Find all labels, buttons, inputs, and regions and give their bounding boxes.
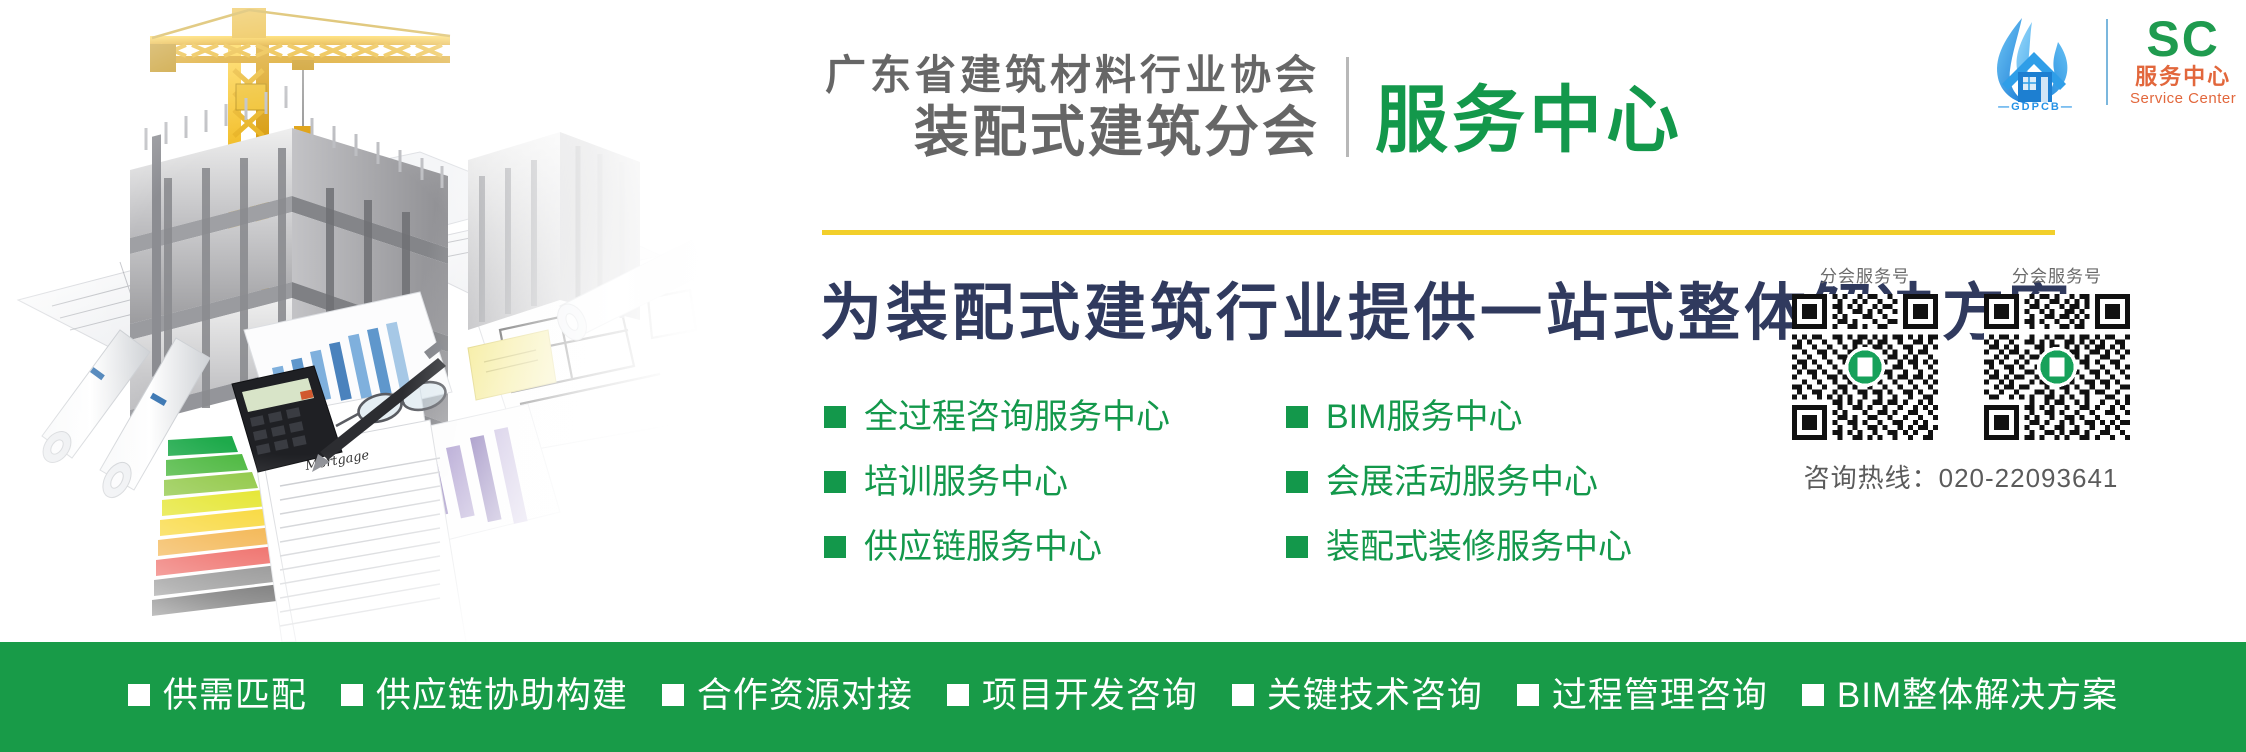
- bullet-square-icon: [1286, 471, 1308, 493]
- footer-tag-label: 过程管理咨询: [1552, 678, 1768, 713]
- yellow-rule-divider: [822, 230, 2055, 235]
- service-item[interactable]: 会展活动服务中心: [1286, 465, 1632, 499]
- qr-code-image: [1792, 294, 1938, 440]
- bullet-square-icon: [1517, 684, 1539, 706]
- service-item-label: 供应链服务中心: [864, 530, 1102, 564]
- logo-divider: [2106, 19, 2108, 105]
- footer-tag[interactable]: 合作资源对接: [662, 678, 913, 713]
- bullet-square-icon: [824, 471, 846, 493]
- bullet-square-icon: [1286, 536, 1308, 558]
- service-item-label: 会展活动服务中心: [1326, 465, 1598, 499]
- qr-code-cell[interactable]: 分会服务号: [1785, 262, 1945, 440]
- footer-tag-label: BIM整体解决方案: [1837, 678, 2118, 713]
- service-list-right: BIM服务中心 会展活动服务中心 装配式装修服务中心: [1286, 400, 1632, 564]
- qr-code-cell[interactable]: 分会服务号: [1977, 262, 2137, 440]
- bullet-square-icon: [824, 406, 846, 428]
- hero-edge-fade: [0, 0, 700, 642]
- service-item-label: 全过程咨询服务中心: [864, 400, 1170, 434]
- service-list: 全过程咨询服务中心 培训服务中心 供应链服务中心 BIM服务中心: [824, 400, 1632, 564]
- bullet-square-icon: [824, 536, 846, 558]
- footer-tag-bar: 供需匹配 供应链协助构建 合作资源对接 项目开发咨询 关键技术咨询 过程管理咨询: [0, 642, 2246, 752]
- bullet-square-icon: [1802, 684, 1824, 706]
- hero-illustration: Mortgage: [0, 0, 700, 642]
- logo-abbr: SC: [2146, 15, 2219, 63]
- logo-abbreviation-caption: —GDPCB—: [1988, 101, 2084, 113]
- hotline-text: 咨询热线：020-22093641: [1785, 458, 2137, 495]
- association-line-1: 广东省建筑材料行业协会: [825, 52, 1320, 100]
- service-item[interactable]: 培训服务中心: [824, 465, 1170, 499]
- footer-tag[interactable]: 供应链协助构建: [341, 678, 628, 713]
- logo-name-en: Service Center: [2130, 90, 2236, 109]
- qr-caption: 分会服务号: [2012, 262, 2102, 287]
- qr-caption: 分会服务号: [1820, 262, 1910, 287]
- service-item-label: 装配式装修服务中心: [1326, 530, 1632, 564]
- logo-name-cn: 服务中心: [2135, 63, 2231, 91]
- service-item[interactable]: 全过程咨询服务中心: [824, 400, 1170, 434]
- service-item[interactable]: 供应链服务中心: [824, 530, 1170, 564]
- footer-tag-list: 供需匹配 供应链协助构建 合作资源对接 项目开发咨询 关键技术咨询 过程管理咨询: [128, 678, 2118, 717]
- footer-tag[interactable]: 关键技术咨询: [1232, 678, 1483, 713]
- association-name: 广东省建筑材料行业协会 装配式建筑分会: [825, 52, 1320, 163]
- bullet-square-icon: [128, 684, 150, 706]
- flame-house-icon: —GDPCB—: [1988, 12, 2084, 112]
- bullet-square-icon: [947, 684, 969, 706]
- service-item-label: 培训服务中心: [864, 465, 1068, 499]
- qr-code-image: [1984, 294, 2130, 440]
- bullet-square-icon: [662, 684, 684, 706]
- footer-tag-label: 供应链协助构建: [376, 678, 628, 713]
- footer-tag[interactable]: 过程管理咨询: [1517, 678, 1768, 713]
- footer-tag[interactable]: 供需匹配: [128, 678, 307, 713]
- vertical-divider: [1346, 57, 1349, 157]
- content-column: 广东省建筑材料行业协会 装配式建筑分会 服务中心 为装配式建筑行业提供一站式整体…: [700, 0, 2246, 642]
- footer-tag-label: 供需匹配: [163, 678, 307, 713]
- logo-wordmark: SC 服务中心 Service Center: [2130, 15, 2236, 109]
- association-line-2: 装配式建筑分会: [914, 102, 1320, 164]
- contact-block: 分会服务号: [1785, 262, 2225, 495]
- organization-logo[interactable]: —GDPCB— SC 服务中心 Service Center: [1988, 12, 2236, 112]
- qr-code-row: 分会服务号: [1785, 262, 2225, 440]
- promotional-banner: Mortgage: [0, 0, 2246, 752]
- footer-tag-label: 关键技术咨询: [1267, 678, 1483, 713]
- service-item[interactable]: 装配式装修服务中心: [1286, 530, 1632, 564]
- bullet-square-icon: [1286, 406, 1308, 428]
- service-item[interactable]: BIM服务中心: [1286, 400, 1632, 434]
- association-lockup: 广东省建筑材料行业协会 装配式建筑分会 服务中心: [825, 52, 1683, 163]
- footer-tag[interactable]: BIM整体解决方案: [1802, 678, 2118, 713]
- footer-tag-label: 合作资源对接: [697, 678, 913, 713]
- service-list-left: 全过程咨询服务中心 培训服务中心 供应链服务中心: [824, 400, 1170, 564]
- bullet-square-icon: [341, 684, 363, 706]
- bullet-square-icon: [1232, 684, 1254, 706]
- footer-tag[interactable]: 项目开发咨询: [947, 678, 1198, 713]
- service-center-title: 服务中心: [1375, 84, 1683, 163]
- service-item-label: BIM服务中心: [1326, 400, 1522, 434]
- footer-tag-label: 项目开发咨询: [982, 678, 1198, 713]
